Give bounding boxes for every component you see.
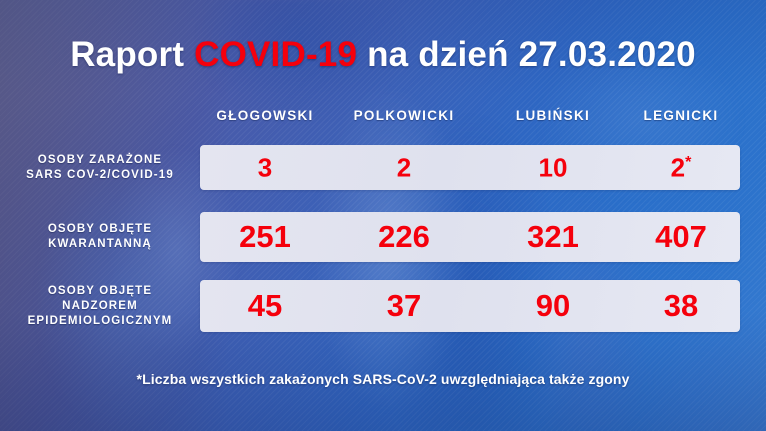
data-bar: 251226321407 <box>200 212 740 262</box>
data-value-number: 10 <box>539 152 568 182</box>
column-header-row: GŁOGOWSKIPOLKOWICKILUBIŃSKILEGNICKI <box>200 108 740 128</box>
row-label-line: KWARANTANNĄ <box>0 237 200 252</box>
covid-report-infographic: Raport COVID-19 na dzień 27.03.2020 GŁOG… <box>0 0 766 431</box>
row-label-line: EPIDEMIOLOGICZNYM <box>0 314 200 329</box>
data-value-number: 38 <box>664 288 698 323</box>
page-title-accent: COVID-19 <box>194 35 357 74</box>
data-value-number: 2 <box>671 152 685 182</box>
footnote: *Liczba wszystkich zakażonych SARS-CoV-2… <box>0 371 766 387</box>
data-value: 251 <box>239 219 291 255</box>
data-value: 37 <box>387 288 421 324</box>
column-header: GŁOGOWSKI <box>216 108 313 123</box>
data-value: 45 <box>248 288 282 324</box>
data-value: 2* <box>671 152 692 183</box>
row-label-line: NADZOREM <box>0 299 200 314</box>
data-value: 38 <box>664 288 698 324</box>
data-value-number: 37 <box>387 288 421 323</box>
data-value: 3 <box>258 152 272 183</box>
data-bar: 32102* <box>200 145 740 190</box>
column-header: LEGNICKI <box>644 108 719 123</box>
data-value-number: 407 <box>655 219 707 254</box>
row-label-line: OSOBY OBJĘTE <box>0 222 200 237</box>
data-value-number: 226 <box>378 219 430 254</box>
page-title-suffix: na dzień 27.03.2020 <box>357 35 696 74</box>
data-value-number: 2 <box>397 152 411 182</box>
data-value: 90 <box>536 288 570 324</box>
row-label: OSOBY OBJĘTEKWARANTANNĄ <box>0 222 200 252</box>
infographic-content: Raport COVID-19 na dzień 27.03.2020 GŁOG… <box>0 0 766 431</box>
data-value-number: 251 <box>239 219 291 254</box>
data-value-number: 45 <box>248 288 282 323</box>
row-label-line: OSOBY OBJĘTE <box>0 284 200 299</box>
data-value-number: 90 <box>536 288 570 323</box>
column-header: LUBIŃSKI <box>516 108 590 123</box>
data-value-number: 321 <box>527 219 579 254</box>
page-title-prefix: Raport <box>70 35 194 74</box>
row-label: OSOBY ZARAŻONESARS COV-2/COVID-19 <box>0 153 200 183</box>
row-label: OSOBY OBJĘTENADZOREMEPIDEMIOLOGICZNYM <box>0 284 200 329</box>
data-value: 407 <box>655 219 707 255</box>
data-value-number: 3 <box>258 152 272 182</box>
data-value: 226 <box>378 219 430 255</box>
data-bar: 45379038 <box>200 280 740 332</box>
footnote-marker: * <box>685 152 691 170</box>
data-value: 10 <box>539 152 568 183</box>
row-label-line: SARS COV-2/COVID-19 <box>0 168 200 183</box>
data-value: 321 <box>527 219 579 255</box>
data-value: 2 <box>397 152 411 183</box>
row-label-line: OSOBY ZARAŻONE <box>0 153 200 168</box>
page-title: Raport COVID-19 na dzień 27.03.2020 <box>0 35 766 75</box>
column-header: POLKOWICKI <box>354 108 455 123</box>
